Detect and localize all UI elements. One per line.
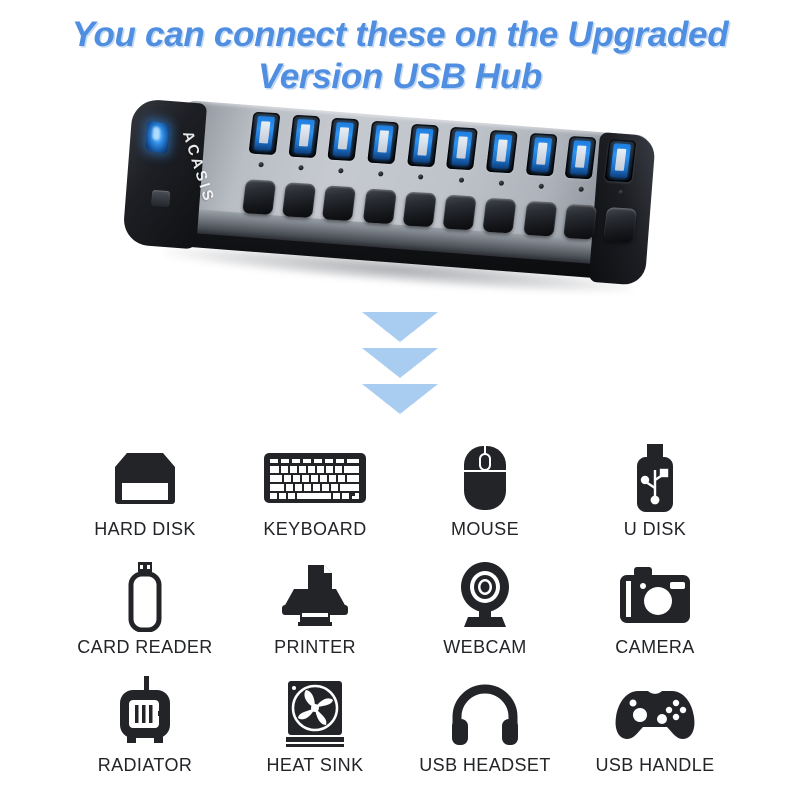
device-item-webcam: WEBCAM [400,558,570,676]
infographic-page: You can connect these on the Upgraded Ve… [0,0,800,800]
product-image-usb-hub: ACASIS [110,108,670,308]
mouse-icon [459,440,511,516]
headset-icon [449,676,521,752]
led-dot [618,190,624,195]
device-label: HEAT SINK [267,755,364,776]
device-label: PRINTER [274,637,356,658]
usb-port [486,130,518,173]
usb-hub-device: ACASIS [122,96,654,310]
usb-port [328,118,360,161]
device-item-keyboard: KEYBOARD [230,440,400,558]
heat-sink-icon [282,676,348,752]
led-dot [378,171,384,176]
power-led-indicator [145,120,169,154]
led-dot [258,162,264,167]
device-item-usb-headset: USB HEADSET [400,676,570,794]
device-label: USB HANDLE [595,755,714,776]
device-item-card-reader: CARD READER [60,558,230,676]
device-item-u-disk: U DISK [570,440,740,558]
gamepad-icon [612,676,698,752]
usb-port [525,133,557,176]
usb-port [288,115,320,158]
device-label: MOUSE [451,519,519,540]
device-label: CAMERA [615,637,694,658]
usb-port [565,136,597,179]
down-arrow-icon [362,384,438,414]
usb-port [446,127,478,170]
device-label: WEBCAM [443,637,526,658]
power-switch [362,189,396,225]
led-dot [298,165,304,170]
device-label: KEYBOARD [263,519,366,540]
led-dot [338,168,344,173]
led-dot [458,177,464,182]
device-item-usb-handle: USB HANDLE [570,676,740,794]
radiator-icon [114,676,176,752]
keyboard-icon [263,440,367,516]
device-item-radiator: RADIATOR [60,676,230,794]
led-dot [498,180,504,185]
led-dot [578,187,584,192]
compatible-devices-grid: HARD DISK [60,440,740,794]
down-arrow-icon [362,312,438,342]
device-label: CARD READER [77,637,212,658]
camera-icon [616,558,694,634]
power-switch [403,192,437,228]
device-item-mouse: MOUSE [400,440,570,558]
usb-flash-drive-icon [631,440,679,516]
device-label: USB HEADSET [419,755,550,776]
down-arrow-icon [362,348,438,378]
power-switch [242,179,276,215]
led-dot [418,174,424,179]
power-switch [322,185,356,221]
power-switch [563,204,597,240]
usb-port [367,121,399,164]
device-label: RADIATOR [98,755,193,776]
usb-port [407,124,439,167]
power-switch [443,195,477,231]
hard-disk-icon [107,440,183,516]
usb-port [604,139,636,182]
hub-side-connector [151,190,170,207]
power-switch [282,182,316,218]
usb-port [249,112,281,155]
power-switch [603,207,637,243]
device-item-hard-disk: HARD DISK [60,440,230,558]
down-arrow-group [0,312,800,414]
led-dot [538,184,544,189]
power-switch [523,201,557,237]
device-label: U DISK [624,519,686,540]
device-item-printer: PRINTER [230,558,400,676]
webcam-icon [454,558,516,634]
device-item-heat-sink: HEAT SINK [230,676,400,794]
power-switch [483,198,517,234]
page-title: You can connect these on the Upgraded Ve… [0,14,800,98]
device-item-camera: CAMERA [570,558,740,676]
device-label: HARD DISK [94,519,196,540]
printer-icon [278,558,352,634]
card-reader-icon [122,558,168,634]
